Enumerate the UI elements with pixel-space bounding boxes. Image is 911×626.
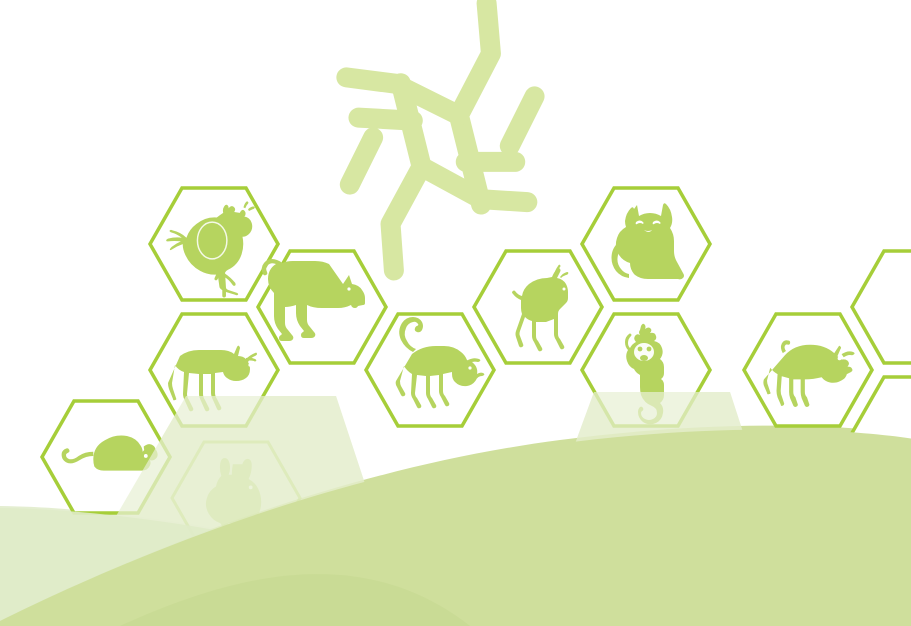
artwork-canvas: Animal Antibody Hexagon Banner <box>0 0 911 626</box>
foreground-landscape <box>0 0 911 626</box>
